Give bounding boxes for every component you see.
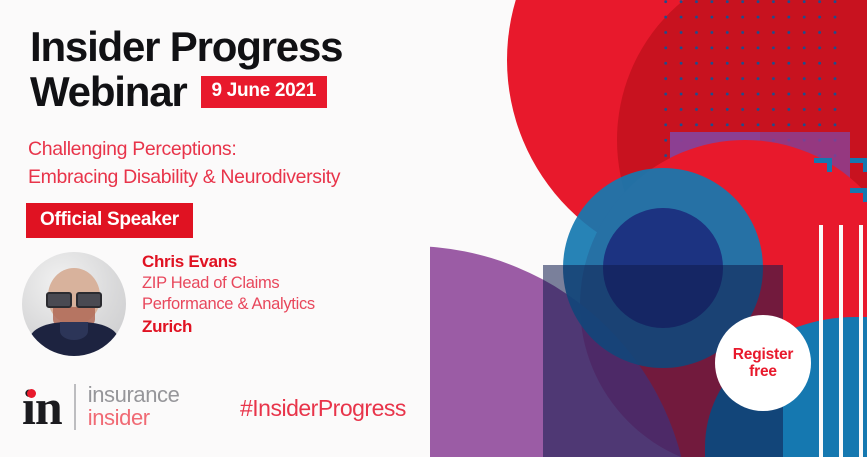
logo-word-insider: insider [88, 407, 180, 430]
subtitle-line-2: Embracing Disability & Neurodiversity [28, 164, 458, 192]
title-line-2: Webinar [30, 69, 187, 114]
white-line-2 [839, 225, 843, 457]
hashtag: #InsiderProgress [240, 395, 406, 422]
register-line-2: free [749, 363, 777, 380]
avatar [22, 252, 126, 356]
title-line-1: Insider Progress [30, 24, 460, 69]
white-line-1 [819, 225, 823, 457]
white-line-3 [859, 225, 863, 457]
speaker-organisation: Zurich [142, 317, 315, 337]
register-free-button[interactable]: Register free [715, 315, 811, 411]
logo-dot-icon [27, 389, 36, 398]
speaker-role-line-1: ZIP Head of Claims [142, 273, 315, 294]
date-badge: 9 June 2021 [201, 76, 327, 108]
page-title: Insider Progress Webinar 9 June 2021 [30, 24, 460, 115]
speaker-details: Chris Evans ZIP Head of Claims Performan… [142, 252, 315, 337]
subtitle: Challenging Perceptions: Embracing Disab… [28, 136, 458, 191]
glasses-icon [46, 292, 102, 304]
decorative-artwork: Register free [430, 0, 867, 457]
blue-bracket-marks [814, 158, 867, 220]
register-line-1: Register [733, 346, 793, 363]
subtitle-line-1: Challenging Perceptions: [28, 136, 458, 164]
webinar-promo-banner: Register free Insider Progress Webinar 9… [0, 0, 867, 457]
speaker-role-line-2: Performance & Analytics [142, 294, 315, 315]
official-speaker-badge: Official Speaker [26, 203, 193, 238]
speaker-name: Chris Evans [142, 252, 315, 272]
insurance-insider-logo[interactable]: in insurance insider [22, 384, 180, 430]
logo-mark-text: in [22, 379, 62, 435]
logo-mark: in [22, 387, 62, 428]
logo-divider [74, 384, 76, 430]
speaker-card: Chris Evans ZIP Head of Claims Performan… [22, 252, 315, 356]
logo-word-insurance: insurance [88, 384, 180, 407]
logo-wordmark: insurance insider [88, 384, 180, 430]
avatar-collar [60, 322, 88, 340]
